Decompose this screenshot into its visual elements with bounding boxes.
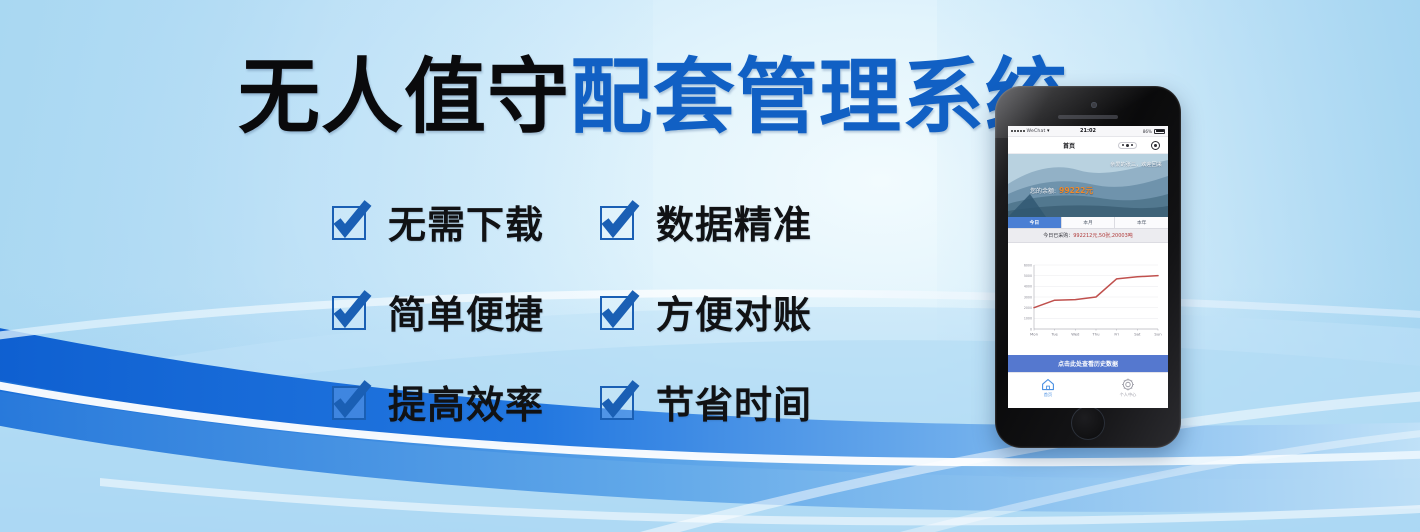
battery-icon xyxy=(1154,129,1165,134)
summary-value: 992212元,50张,20003吨 xyxy=(1073,232,1133,239)
phone-page-title: 首页 xyxy=(1063,141,1075,150)
svg-text:Thu: Thu xyxy=(1091,332,1100,337)
target-circle-icon[interactable] xyxy=(1151,141,1160,150)
summary-prefix: 今日已采购： xyxy=(1043,232,1073,239)
feature-label: 提高效率 xyxy=(388,374,544,429)
nav-item-home[interactable]: 首页 xyxy=(1008,373,1088,402)
phone-nav-header: 首页 xyxy=(1008,137,1168,154)
tab-month[interactable]: 本月 xyxy=(1062,217,1116,228)
tab-label: 今日 xyxy=(1030,219,1040,226)
line-chart: 0100020003000400050006000MonTueWedThuFri… xyxy=(1008,243,1168,355)
svg-text:3000: 3000 xyxy=(1024,295,1032,299)
svg-text:2000: 2000 xyxy=(1024,306,1032,310)
checkbox-checked-icon xyxy=(598,290,640,332)
svg-text:4000: 4000 xyxy=(1024,285,1032,289)
svg-text:Sat: Sat xyxy=(1134,332,1141,337)
phone-chart-panel: 0100020003000400050006000MonTueWedThuFri… xyxy=(1008,243,1168,355)
nav-item-profile[interactable]: 个人中心 xyxy=(1088,373,1168,402)
wifi-icon: ▾ xyxy=(1047,128,1050,134)
feature-item-5: 节省时间 xyxy=(598,374,866,429)
checkbox-checked-icon xyxy=(598,200,640,242)
checkbox-checked-icon xyxy=(330,380,372,422)
feature-label: 数据精准 xyxy=(656,194,812,249)
earpiece-speaker xyxy=(1058,115,1118,119)
more-dots-icon[interactable] xyxy=(1118,142,1137,149)
phone-status-bar: WeChat ▾ 21:02 86% xyxy=(1008,126,1168,137)
tab-today[interactable]: 今日 xyxy=(1008,217,1062,228)
feature-item-4: 提高效率 xyxy=(330,374,598,429)
hero-greeting: 亲爱的张三，欢迎回来 xyxy=(1110,161,1162,168)
promo-banner: 无人值守配套管理系统 无需下载 数据精准 xyxy=(0,0,1420,532)
nav-label: 首页 xyxy=(1044,392,1052,398)
svg-text:6000: 6000 xyxy=(1024,263,1032,267)
phone-bottom-nav: 首页 个人中心 xyxy=(1008,372,1168,402)
tab-label: 本月 xyxy=(1083,219,1093,226)
checkbox-checked-icon xyxy=(598,380,640,422)
home-icon xyxy=(1041,378,1055,391)
hero-balance-value: 99222元 xyxy=(1059,185,1093,196)
checkbox-checked-icon xyxy=(330,290,372,332)
signal-dots-icon xyxy=(1011,130,1025,132)
view-history-button[interactable]: 点击此处查看历史数据 xyxy=(1008,355,1168,372)
svg-text:Fri: Fri xyxy=(1114,332,1119,337)
phone-screen: WeChat ▾ 21:02 86% 首页 xyxy=(1008,126,1168,408)
home-button[interactable] xyxy=(1071,406,1105,440)
tab-label: 本年 xyxy=(1137,219,1147,226)
feature-label: 节省时间 xyxy=(656,374,812,429)
svg-text:Mon: Mon xyxy=(1030,332,1039,337)
battery-percent-label: 86% xyxy=(1143,129,1152,134)
feature-label: 无需下载 xyxy=(388,194,544,249)
phone-hero-banner: 亲爱的张三，欢迎回来 您的余额: 99222元 xyxy=(1008,154,1168,217)
svg-text:1000: 1000 xyxy=(1024,317,1032,321)
feature-item-2: 简单便捷 xyxy=(330,284,598,339)
feature-item-3: 方便对账 xyxy=(598,284,866,339)
status-time: 21:02 xyxy=(1080,128,1096,134)
front-camera-icon xyxy=(1091,102,1097,108)
phone-summary-row: 今日已采购：992212元,50张,20003吨 xyxy=(1008,229,1168,243)
tab-year[interactable]: 本年 xyxy=(1115,217,1168,228)
phone-tab-bar: 今日 本月 本年 xyxy=(1008,217,1168,229)
feature-label: 方便对账 xyxy=(656,284,812,339)
svg-text:Tue: Tue xyxy=(1050,332,1058,337)
svg-text:Sun: Sun xyxy=(1154,332,1162,337)
carrier-label: WeChat xyxy=(1027,129,1046,134)
nav-label: 个人中心 xyxy=(1120,392,1137,398)
svg-text:Wed: Wed xyxy=(1071,332,1080,337)
banner-headline: 无人值守配套管理系统 xyxy=(238,52,1068,144)
feature-label: 简单便捷 xyxy=(388,284,544,339)
headline-part-dark: 无人值守 xyxy=(238,50,570,145)
cta-label: 点击此处查看历史数据 xyxy=(1058,359,1118,368)
feature-list: 无需下载 数据精准 简单便捷 xyxy=(330,176,866,446)
hero-balance: 您的余额: 99222元 xyxy=(1030,185,1093,196)
hero-balance-label: 您的余额: xyxy=(1030,186,1056,195)
phone-mockup: WeChat ▾ 21:02 86% 首页 xyxy=(995,86,1181,448)
gear-icon xyxy=(1121,378,1135,391)
svg-text:5000: 5000 xyxy=(1024,274,1032,278)
feature-item-1: 数据精准 xyxy=(598,194,866,249)
checkbox-checked-icon xyxy=(330,200,372,242)
headline-part-blue: 配套管理系统 xyxy=(570,50,1068,145)
feature-item-0: 无需下载 xyxy=(330,194,598,249)
